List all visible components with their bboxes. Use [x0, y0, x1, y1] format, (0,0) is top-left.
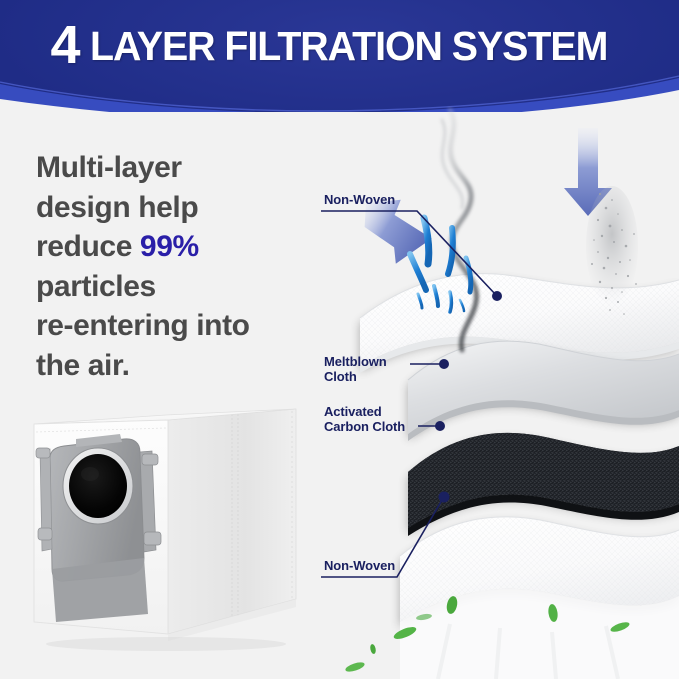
headline-line-2: design help — [36, 191, 198, 224]
label-meltblown-cloth: Meltblown Cloth — [324, 354, 387, 385]
header-wave-decoration — [0, 0, 679, 112]
headline-line-3-prefix: reduce — [36, 230, 140, 263]
label-non-woven-bottom: Non-Woven — [324, 558, 395, 573]
label-non-woven-top: Non-Woven — [324, 192, 395, 207]
headline-line-6: the air. — [36, 349, 130, 382]
headline-text: Multi-layer design help reduce 99% parti… — [36, 148, 304, 386]
bag-port-highlight — [81, 467, 99, 481]
bag-left-tab-bottom — [38, 528, 52, 540]
filter-layer-diagram — [300, 104, 679, 679]
bag-right-tab-bottom — [144, 532, 161, 545]
bag-left-tab-top — [36, 448, 50, 458]
infographic-page: 4 LAYER FILTRATION SYSTEM Multi-layer de… — [0, 0, 679, 679]
headline-accent-percent: 99% — [140, 230, 199, 263]
header-banner: 4 LAYER FILTRATION SYSTEM — [0, 0, 679, 112]
headline-line-5: re-entering into — [36, 309, 250, 342]
bag-inlet-port — [69, 454, 127, 518]
label-activated-carbon-cloth: Activated Carbon Cloth — [324, 404, 405, 435]
bag-collar-skirt — [52, 558, 148, 622]
headline-line-4: particles — [36, 270, 156, 303]
headline-line-1: Multi-layer — [36, 151, 182, 184]
layer-non-woven-bottom — [400, 517, 679, 679]
bag-right-tab-top — [142, 454, 158, 465]
bag-shadow — [46, 637, 286, 651]
product-image-dust-bag — [16, 398, 318, 660]
